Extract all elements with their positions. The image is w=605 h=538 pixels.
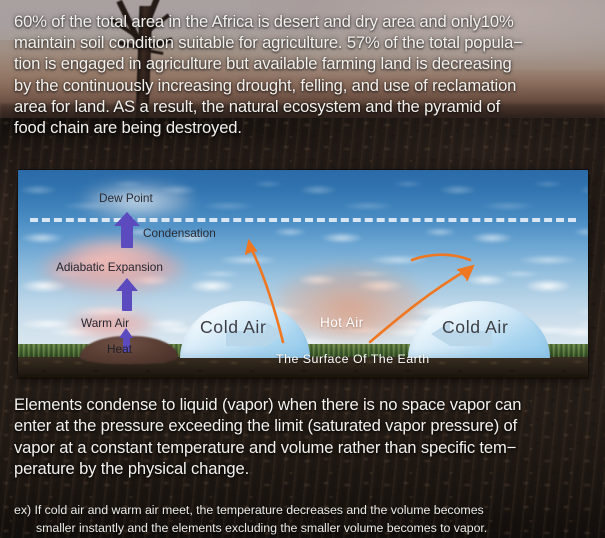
slide-root: 60% of the total area in the Africa is d… — [0, 0, 605, 538]
label-cold-air-left: Cold Air — [200, 317, 266, 338]
example-line-2: smaller instantly and the elements exclu… — [14, 520, 598, 538]
label-earth-surface: The Surface Of The Earth — [276, 352, 430, 366]
label-heat: Heat — [107, 342, 132, 356]
curved-arrow-left-head — [246, 241, 256, 254]
label-cold-air-right: Cold Air — [442, 317, 508, 338]
bottom-paragraph: Elements condense to liquid (vapor) when… — [14, 394, 598, 480]
label-adiabatic-expansion: Adiabatic Expansion — [56, 260, 163, 274]
weather-front-diagram: Dew Point Condensation Adiabatic Expansi… — [18, 170, 588, 378]
label-dew-point: Dew Point — [99, 191, 153, 205]
example-line-1: ex) If cold air and warm air meet, the t… — [14, 503, 484, 517]
label-condensation: Condensation — [143, 226, 216, 240]
label-hot-air: Hot Air — [320, 315, 364, 330]
label-warm-air: Warm Air — [81, 316, 129, 330]
curved-arrow-hook-icon — [412, 255, 470, 260]
example-note: ex) If cold air and warm air meet, the t… — [14, 502, 598, 537]
top-paragraph: 60% of the total area in the Africa is d… — [14, 11, 598, 138]
